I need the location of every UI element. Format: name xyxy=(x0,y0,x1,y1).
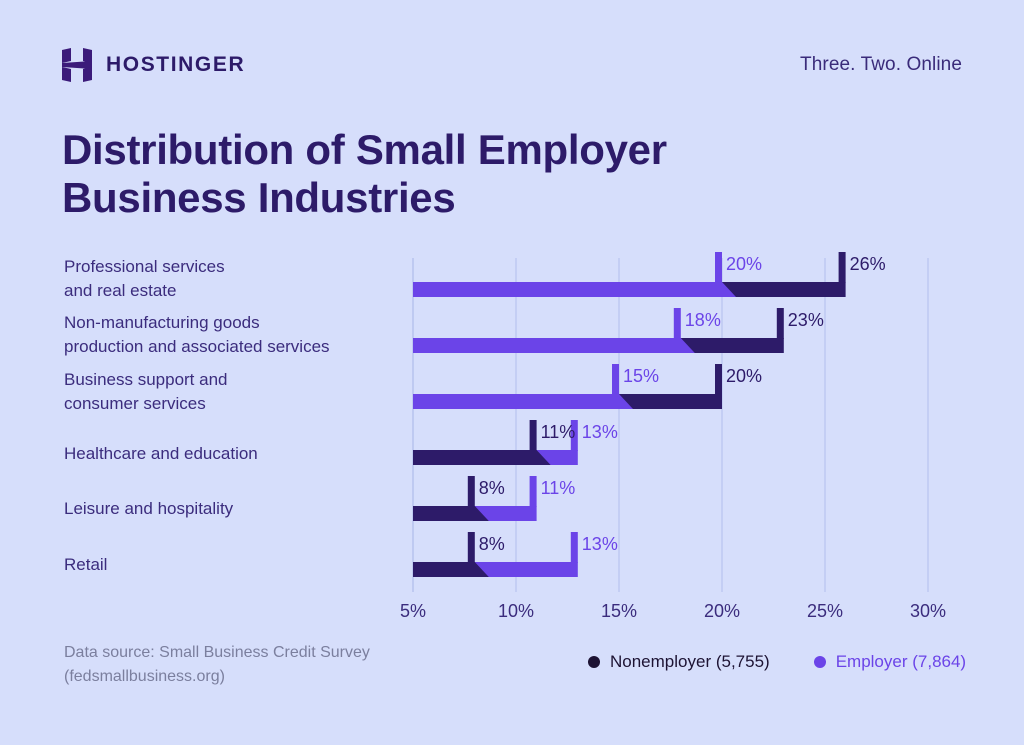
category-label: Healthcare and education xyxy=(64,442,258,466)
bar-segment xyxy=(413,338,784,353)
bar-segment xyxy=(413,506,489,521)
infographic-canvas: HOSTINGER Three. Two. Online Distributio… xyxy=(0,0,1024,745)
x-axis-tick: 15% xyxy=(601,601,637,622)
bar-value-label-nonemployer: 26% xyxy=(850,255,886,273)
bar-value-label-employer: 20% xyxy=(726,255,762,273)
bar-value-label-employer: 11% xyxy=(541,479,576,497)
chart-container: Professional services and real estateNon… xyxy=(0,0,1024,745)
bar-end-marker xyxy=(468,476,475,507)
bar-segment xyxy=(413,282,846,297)
category-label: Non-manufacturing goods production and a… xyxy=(64,311,330,359)
category-label-list: Professional services and real estateNon… xyxy=(64,255,409,585)
bar-segment xyxy=(413,450,551,465)
bar-value-label-nonemployer: 23% xyxy=(788,311,824,329)
legend-item[interactable]: Employer (7,864) xyxy=(814,652,966,672)
chart-legend: Nonemployer (5,755)Employer (7,864) xyxy=(588,652,966,672)
bar-value-label-employer: 15% xyxy=(623,367,659,385)
bar-value-label-nonemployer: 11% xyxy=(541,423,576,441)
category-label: Leisure and hospitality xyxy=(64,497,233,521)
bar-end-marker xyxy=(530,420,537,451)
legend-label: Nonemployer (5,755) xyxy=(610,652,770,672)
bar-segment xyxy=(413,394,633,409)
x-axis-tick: 5% xyxy=(400,601,426,622)
legend-swatch-icon xyxy=(814,656,826,668)
bar-end-marker xyxy=(777,308,784,339)
bar-segment xyxy=(413,562,578,577)
bar-segment xyxy=(413,338,695,353)
bar-segment xyxy=(413,506,537,521)
bar-end-marker xyxy=(715,364,722,395)
bar-value-label-employer: 13% xyxy=(582,423,618,441)
bar-value-label-nonemployer: 8% xyxy=(479,479,505,497)
bar-end-marker xyxy=(839,252,846,283)
bar-value-label-nonemployer: 8% xyxy=(479,535,505,553)
bar-value-label-employer: 13% xyxy=(582,535,618,553)
bar-segment xyxy=(413,282,736,297)
bar-end-marker xyxy=(674,308,681,339)
category-label: Retail xyxy=(64,553,107,577)
bar-value-label-employer: 18% xyxy=(685,311,721,329)
bar-segment xyxy=(413,394,722,409)
bar-value-label-nonemployer: 20% xyxy=(726,367,762,385)
legend-label: Employer (7,864) xyxy=(836,652,966,672)
bar-end-marker xyxy=(612,364,619,395)
x-axis-tick: 20% xyxy=(704,601,740,622)
bar-end-marker xyxy=(715,252,722,283)
bar-end-marker xyxy=(468,532,475,563)
category-label: Business support and consumer services xyxy=(64,368,228,416)
legend-swatch-icon xyxy=(588,656,600,668)
x-axis-tick-labels: 5%10%15%20%25%30% xyxy=(0,601,1024,627)
bar-segment xyxy=(413,450,578,465)
bar-end-marker xyxy=(571,532,578,563)
bar-segment xyxy=(413,562,489,577)
x-axis-tick: 25% xyxy=(807,601,843,622)
data-source-note: Data source: Small Business Credit Surve… xyxy=(64,641,370,689)
x-axis-tick: 10% xyxy=(498,601,534,622)
x-axis-tick: 30% xyxy=(910,601,946,622)
legend-item[interactable]: Nonemployer (5,755) xyxy=(588,652,770,672)
chart-bars xyxy=(413,252,846,577)
category-label: Professional services and real estate xyxy=(64,255,225,303)
bar-end-marker xyxy=(530,476,537,507)
